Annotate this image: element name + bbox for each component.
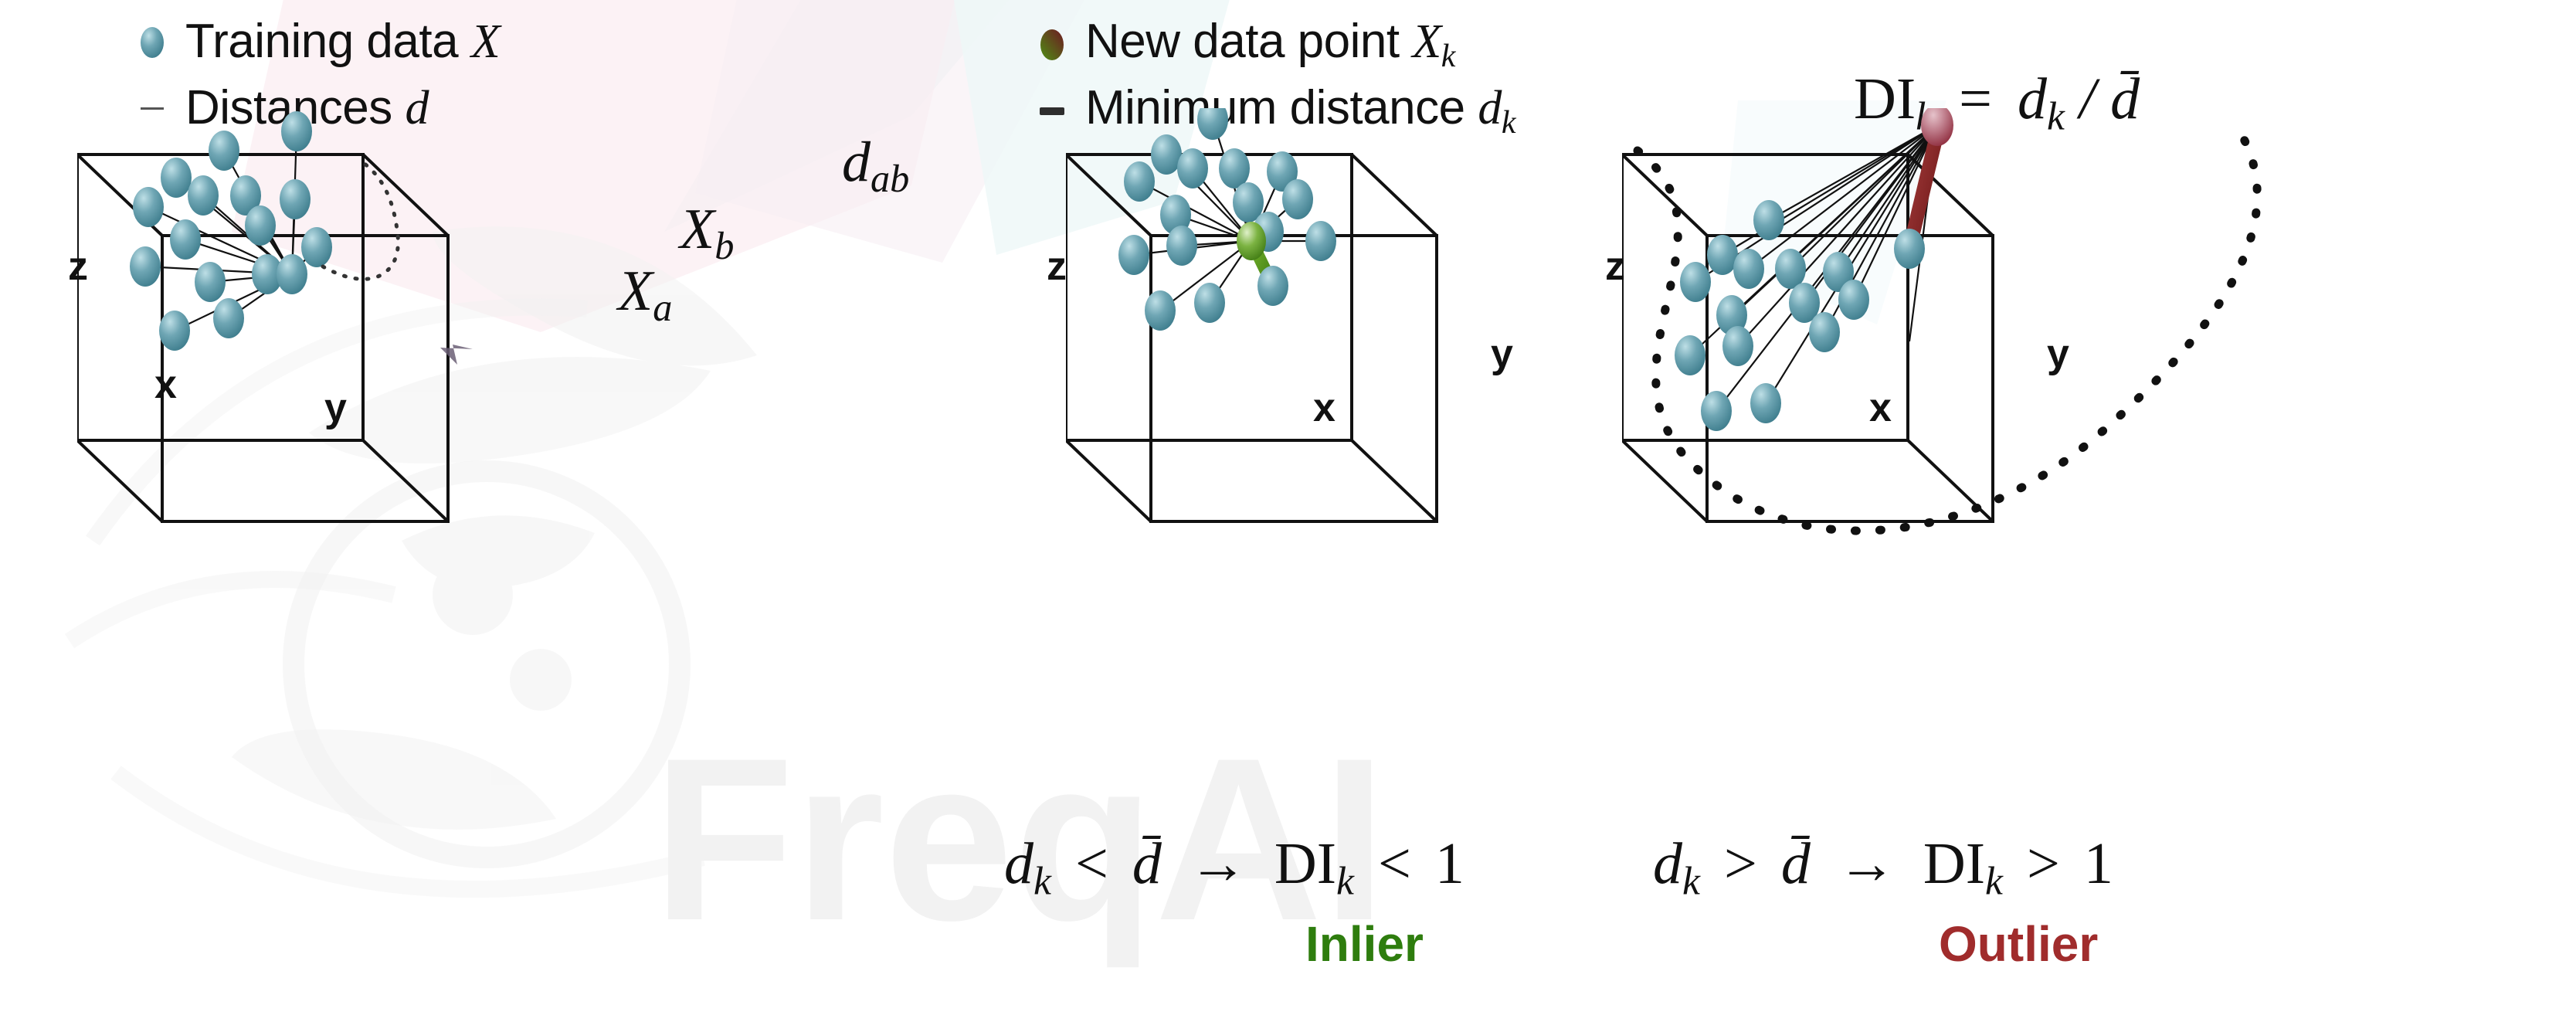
- axis-label-y-panel2: y: [1491, 331, 1513, 377]
- axis-label-x-panel3: x: [1869, 385, 1892, 431]
- caption-formula-outlier: dk > d̄ → DIk > 1: [1653, 830, 2113, 904]
- nearest-neighbour-point: [1894, 229, 1925, 269]
- axis-label-x-panel2: x: [1313, 385, 1336, 431]
- new-data-point-inlier: [1237, 222, 1266, 260]
- axis-label-x-panel1: x: [154, 362, 177, 408]
- axis-label-y-panel1: y: [324, 385, 347, 431]
- axis-label-z-panel3: z: [1605, 243, 1625, 290]
- panel-outlier-cube: [1622, 108, 2534, 803]
- caption-formula-inlier: dk < d̄ → DIk < 1: [1004, 830, 1464, 904]
- axis-label-z-panel2: z: [1047, 243, 1067, 290]
- training-points: [1118, 108, 1336, 331]
- distance-callout-dab: dab: [842, 130, 909, 201]
- point-label-xa: Xa: [618, 259, 672, 330]
- point-label-xb: Xb: [680, 197, 734, 268]
- panel-training-cube: [77, 108, 935, 803]
- nearest-neighbour-point: [1257, 266, 1288, 306]
- axis-label-y-panel3: y: [2047, 331, 2069, 377]
- dab-callout-curve: [323, 164, 398, 279]
- training-points: [130, 111, 332, 351]
- diagram-canvas: FreqAI Training data X: [0, 0, 2576, 1022]
- point-xa: [277, 254, 307, 294]
- verdict-outlier: Outlier: [1939, 915, 2098, 973]
- verdict-inlier: Inlier: [1305, 915, 1424, 973]
- point-xb: [301, 227, 332, 267]
- axis-label-z-panel1: z: [68, 243, 88, 290]
